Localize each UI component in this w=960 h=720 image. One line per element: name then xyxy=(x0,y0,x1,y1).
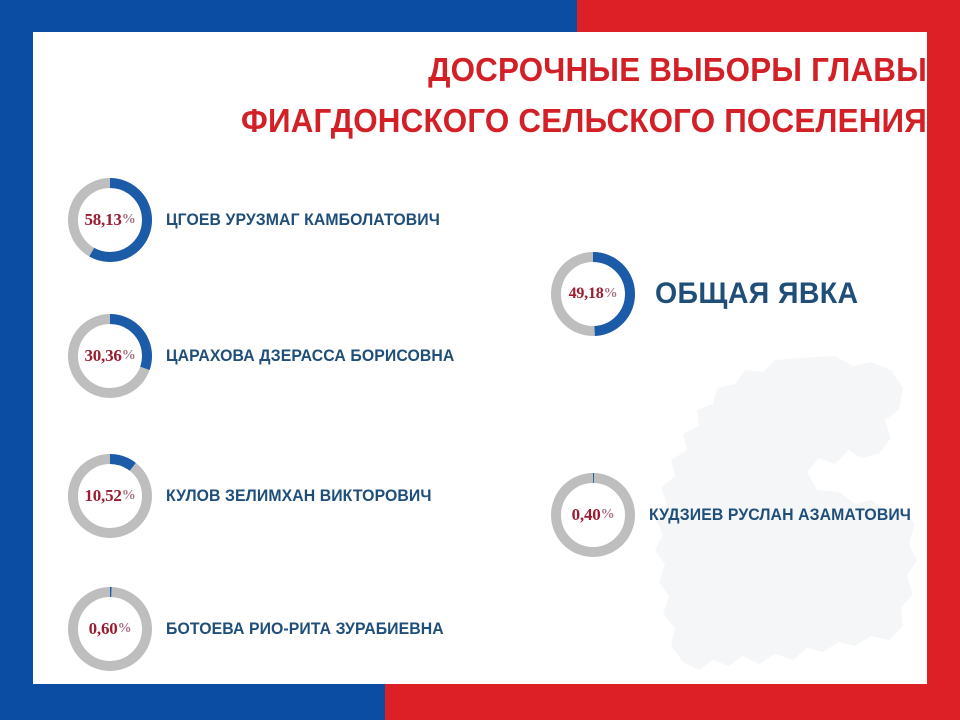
turnout-label: ОБЩАЯ ЯВКА xyxy=(655,277,859,311)
candidate-name: ЦАРАХОВА ДЗЕРАССА БОРИСОВНА xyxy=(166,346,454,366)
poster-title: ДОСРОЧНЫЕ ВЫБОРЫ ГЛАВЫ ФИАГДОНСКОГО СЕЛЬ… xyxy=(116,44,927,146)
candidate-row: 0,40% КУДЗИЕВ РУСЛАН АЗАМАТОВИЧ xyxy=(551,473,927,557)
turnout-row: 49,18% ОБЩАЯ ЯВКА xyxy=(551,252,869,336)
percent-sign: % xyxy=(601,507,615,523)
candidate-percent-label: 30,36% xyxy=(68,314,152,398)
percent-value: 0,40 xyxy=(572,505,601,525)
percent-sign: % xyxy=(118,621,132,637)
candidate-percent-label: 0,60% xyxy=(68,587,152,671)
candidate-name: ЦГОЕВ УРУЗМАГ КАМБОЛАТОВИЧ xyxy=(166,210,440,230)
poster-title-line-1: ДОСРОЧНЫЕ ВЫБОРЫ ГЛАВЫ xyxy=(116,44,927,95)
candidate-percent-label: 58,13% xyxy=(68,178,152,262)
donut-chart: 10,52% xyxy=(68,454,152,538)
candidate-percent-label: 0,40% xyxy=(551,473,635,557)
candidate-percent-label: 10,52% xyxy=(68,454,152,538)
percent-value: 30,36 xyxy=(84,346,121,366)
content-card: ДОСРОЧНЫЕ ВЫБОРЫ ГЛАВЫ ФИАГДОНСКОГО СЕЛЬ… xyxy=(33,32,927,684)
donut-chart: 30,36% xyxy=(68,314,152,398)
candidate-row: 58,13% ЦГОЕВ УРУЗМАГ КАМБОЛАТОВИЧ xyxy=(68,178,461,262)
candidate-name: КУДЗИЕВ РУСЛАН АЗАМАТОВИЧ xyxy=(649,505,911,525)
candidate-row: 10,52% КУЛОВ ЗЕЛИМХАН ВИКТОРОВИЧ xyxy=(68,454,452,538)
candidate-row: 0,60% БОТОЕВА РИО-РИТА ЗУРАБИЕВНА xyxy=(68,587,465,671)
election-infographic-poster: ДОСРОЧНЫЕ ВЫБОРЫ ГЛАВЫ ФИАГДОНСКОГО СЕЛЬ… xyxy=(0,0,960,720)
candidate-row: 30,36% ЦАРАХОВА ДЗЕРАССА БОРИСОВНА xyxy=(68,314,476,398)
flag-frame-bottom-red xyxy=(385,684,960,720)
donut-chart-turnout: 49,18% xyxy=(551,252,635,336)
poster-title-line-2: ФИАГДОНСКОГО СЕЛЬСКОГО ПОСЕЛЕНИЯ xyxy=(116,95,927,146)
percent-value: 49,18 xyxy=(569,285,604,303)
candidate-name: БОТОЕВА РИО-РИТА ЗУРАБИЕВНА xyxy=(166,619,444,639)
percent-sign: % xyxy=(122,212,136,228)
percent-value: 58,13 xyxy=(84,210,121,230)
percent-sign: % xyxy=(122,348,136,364)
flag-frame-bottom-blue xyxy=(0,684,385,720)
percent-value: 10,52 xyxy=(84,486,121,506)
donut-chart: 0,40% xyxy=(551,473,635,557)
percent-value: 0,60 xyxy=(89,619,118,639)
turnout-percent-label: 49,18% xyxy=(551,252,635,336)
donut-chart: 0,60% xyxy=(68,587,152,671)
candidate-name: КУЛОВ ЗЕЛИМХАН ВИКТОРОВИЧ xyxy=(166,486,432,506)
percent-sign: % xyxy=(604,286,618,302)
donut-chart: 58,13% xyxy=(68,178,152,262)
percent-sign: % xyxy=(122,488,136,504)
